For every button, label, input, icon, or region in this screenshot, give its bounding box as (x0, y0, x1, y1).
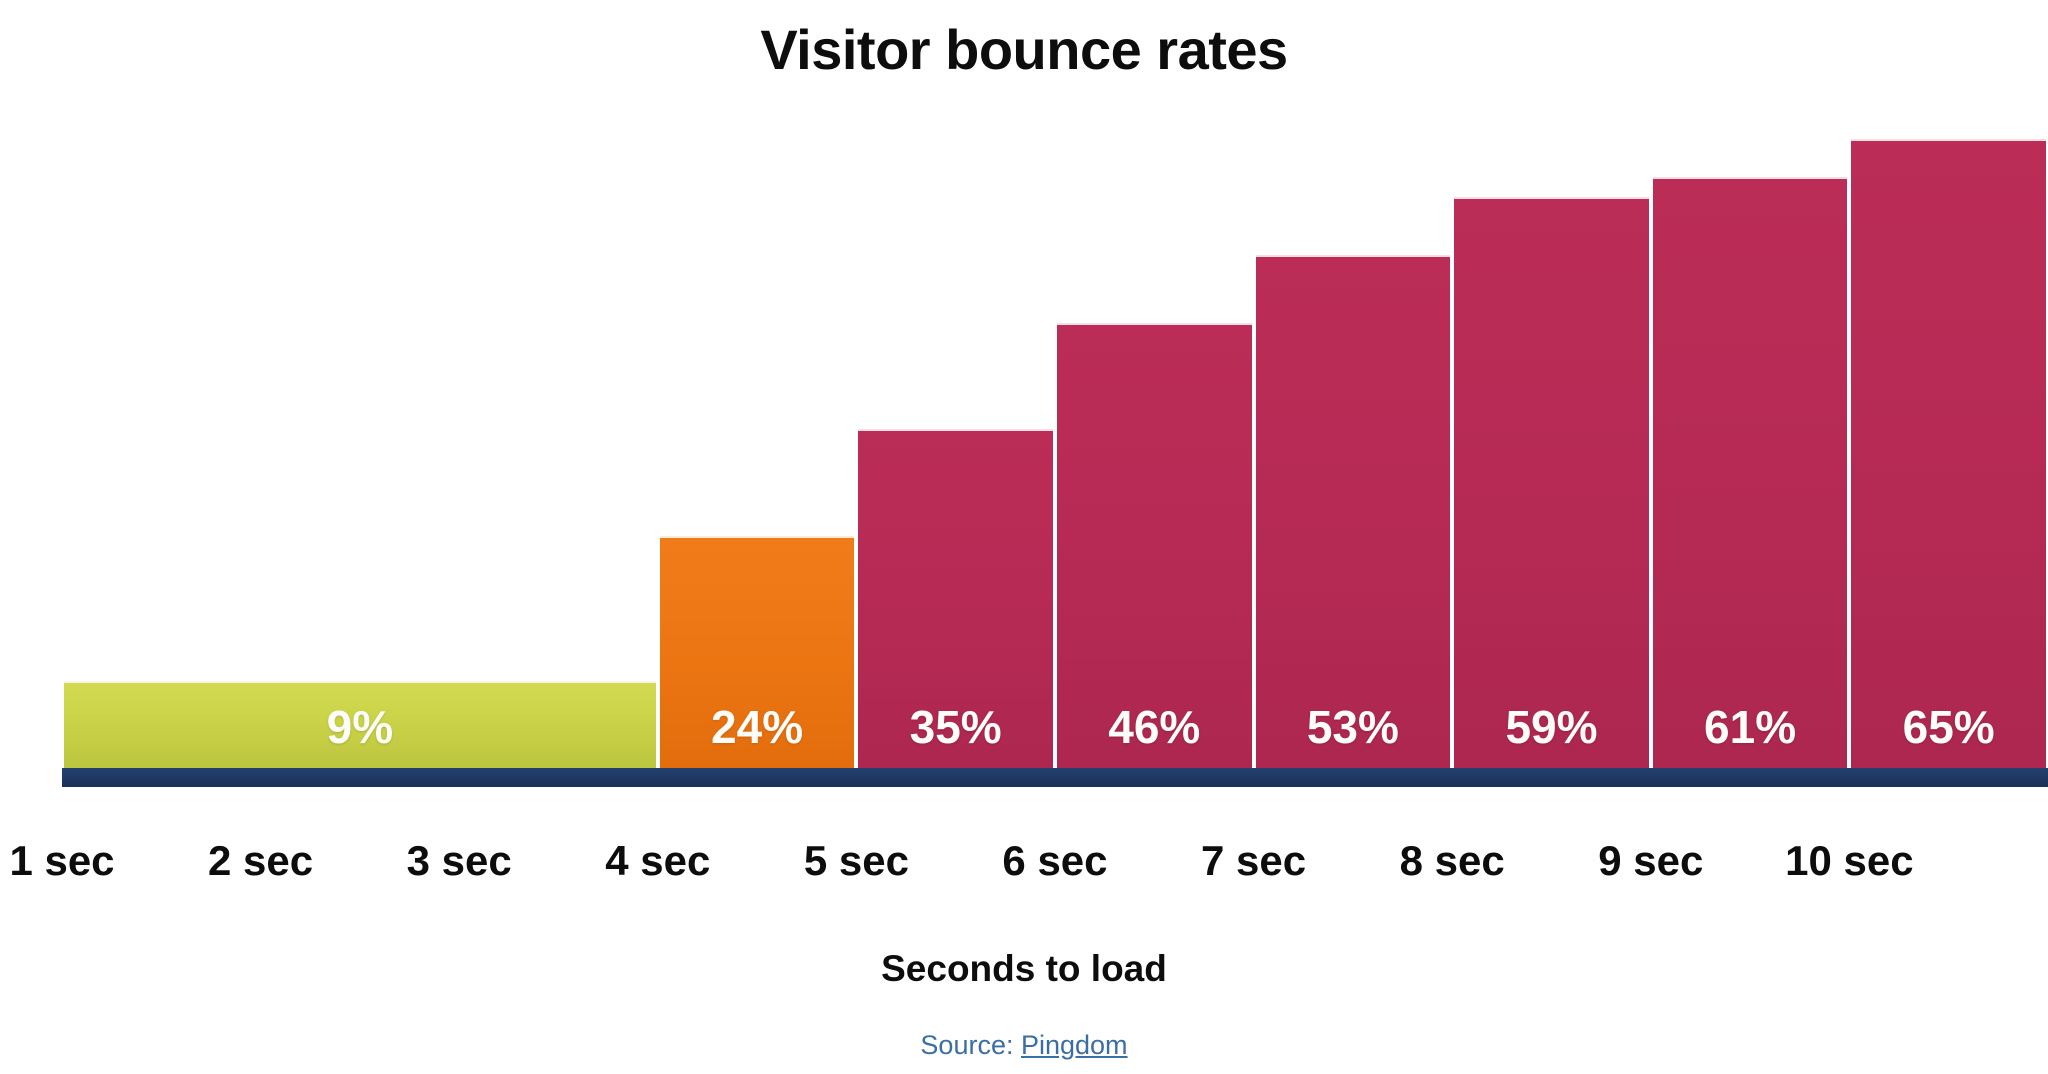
bar-slot: 9% (62, 100, 658, 768)
bar-value-label: 46% (1108, 704, 1200, 768)
x-axis-tick-label: 6 sec (956, 840, 1155, 882)
bar[interactable]: 9% (62, 681, 658, 768)
bar-slot: 24% (658, 100, 857, 768)
bar-slot: 59% (1452, 100, 1651, 768)
bar-slot: 46% (1055, 100, 1254, 768)
x-axis-tick-labels: 1 sec2 sec3 sec4 sec5 sec6 sec7 sec8 sec… (0, 840, 2048, 900)
bar-slot: 65% (1849, 100, 2048, 768)
bar-slot: 53% (1254, 100, 1453, 768)
bar-slot: 61% (1651, 100, 1850, 768)
x-axis-tick-label: 7 sec (1154, 840, 1353, 882)
bar-value-label: 35% (910, 704, 1002, 768)
x-axis-tick-label: 9 sec (1552, 840, 1751, 882)
x-axis-tick-label: 10 sec (1750, 840, 1949, 882)
x-axis-tick-label: 5 sec (757, 840, 956, 882)
bar[interactable]: 46% (1055, 323, 1254, 768)
source-link[interactable]: Pingdom (1021, 1030, 1128, 1060)
bar-value-label: 59% (1505, 704, 1597, 768)
bar[interactable]: 61% (1651, 177, 1850, 768)
bar-value-label: 61% (1704, 704, 1796, 768)
bar-value-label: 9% (327, 704, 393, 768)
bar[interactable]: 53% (1254, 255, 1453, 768)
bar[interactable]: 65% (1849, 139, 2048, 768)
x-axis-tick-label: 1 sec (0, 840, 161, 882)
bar-slot: 35% (856, 100, 1055, 768)
bar[interactable]: 24% (658, 536, 857, 768)
chart-title: Visitor bounce rates (0, 22, 2048, 78)
source-prefix: Source: (920, 1030, 1021, 1060)
bar[interactable]: 35% (856, 429, 1055, 768)
bar-value-label: 65% (1903, 704, 1995, 768)
x-axis-tick-label: 8 sec (1353, 840, 1552, 882)
bar[interactable]: 59% (1452, 197, 1651, 768)
source-attribution: Source: Pingdom (0, 1032, 2048, 1059)
axis-baseline (62, 768, 2048, 787)
plot-area: 9%24%35%46%53%59%61%65% (62, 100, 2048, 768)
x-axis-tick-label: 3 sec (360, 840, 559, 882)
bar-value-label: 53% (1307, 704, 1399, 768)
x-axis-tick-label: 4 sec (559, 840, 758, 882)
x-axis-title: Seconds to load (0, 950, 2048, 987)
bar-value-label: 24% (711, 704, 803, 768)
x-axis-tick-label: 2 sec (161, 840, 360, 882)
